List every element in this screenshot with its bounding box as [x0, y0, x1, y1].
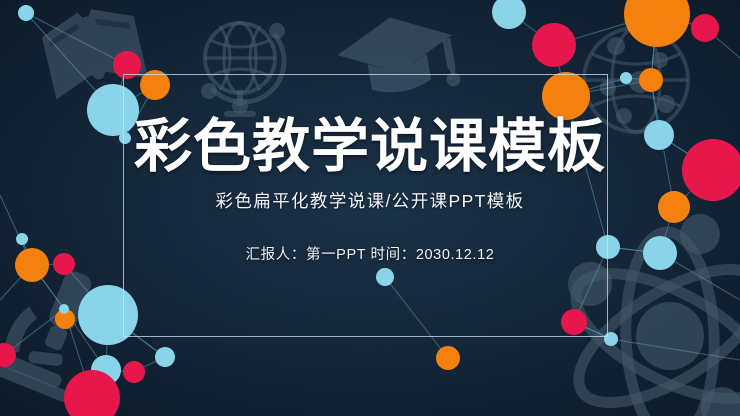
accent-circle: [624, 0, 690, 47]
accent-circle: [643, 236, 677, 270]
accent-circle: [532, 23, 576, 67]
accent-circle: [644, 120, 674, 150]
accent-circle: [436, 346, 460, 370]
accent-circle: [658, 191, 690, 223]
accent-circle: [15, 248, 49, 282]
presentation-slide: 彩色教学说课模板 彩色扁平化教学说课/公开课PPT模板 汇报人：第一PPT 时间…: [0, 0, 740, 416]
accent-circle: [155, 347, 175, 367]
accent-circle: [0, 343, 16, 367]
accent-circle: [691, 14, 719, 42]
accent-circle: [492, 0, 526, 29]
accent-circle: [639, 68, 663, 92]
accent-circle: [620, 72, 632, 84]
accent-circle: [682, 139, 740, 201]
accent-circle: [59, 304, 69, 314]
accent-circle: [53, 253, 75, 275]
title-frame: [123, 74, 608, 337]
accent-circle: [18, 5, 34, 21]
accent-circle: [123, 361, 145, 383]
accent-circle: [16, 233, 28, 245]
